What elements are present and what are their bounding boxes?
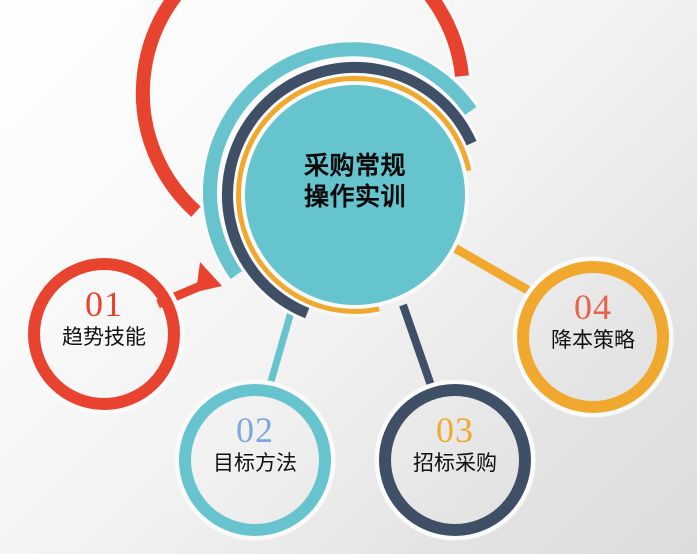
node-02-ring[interactable] [185,390,325,530]
connector-to-04 [446,243,538,296]
node-01-ring[interactable] [34,264,174,404]
node-04-ring[interactable] [523,267,663,407]
connector-to-01-wedge [196,262,222,292]
center-hub-circle [245,85,465,305]
diagram-canvas [0,0,697,554]
node-03-ring[interactable] [385,390,525,530]
center-hub[interactable] [241,81,469,309]
connector-to-02 [268,312,291,392]
infographic-root: 采购常规 操作实训 01 趋势技能 02 目标方法 03 招标采购 04 降本策… [0,0,697,554]
connector-to-03 [403,305,434,394]
